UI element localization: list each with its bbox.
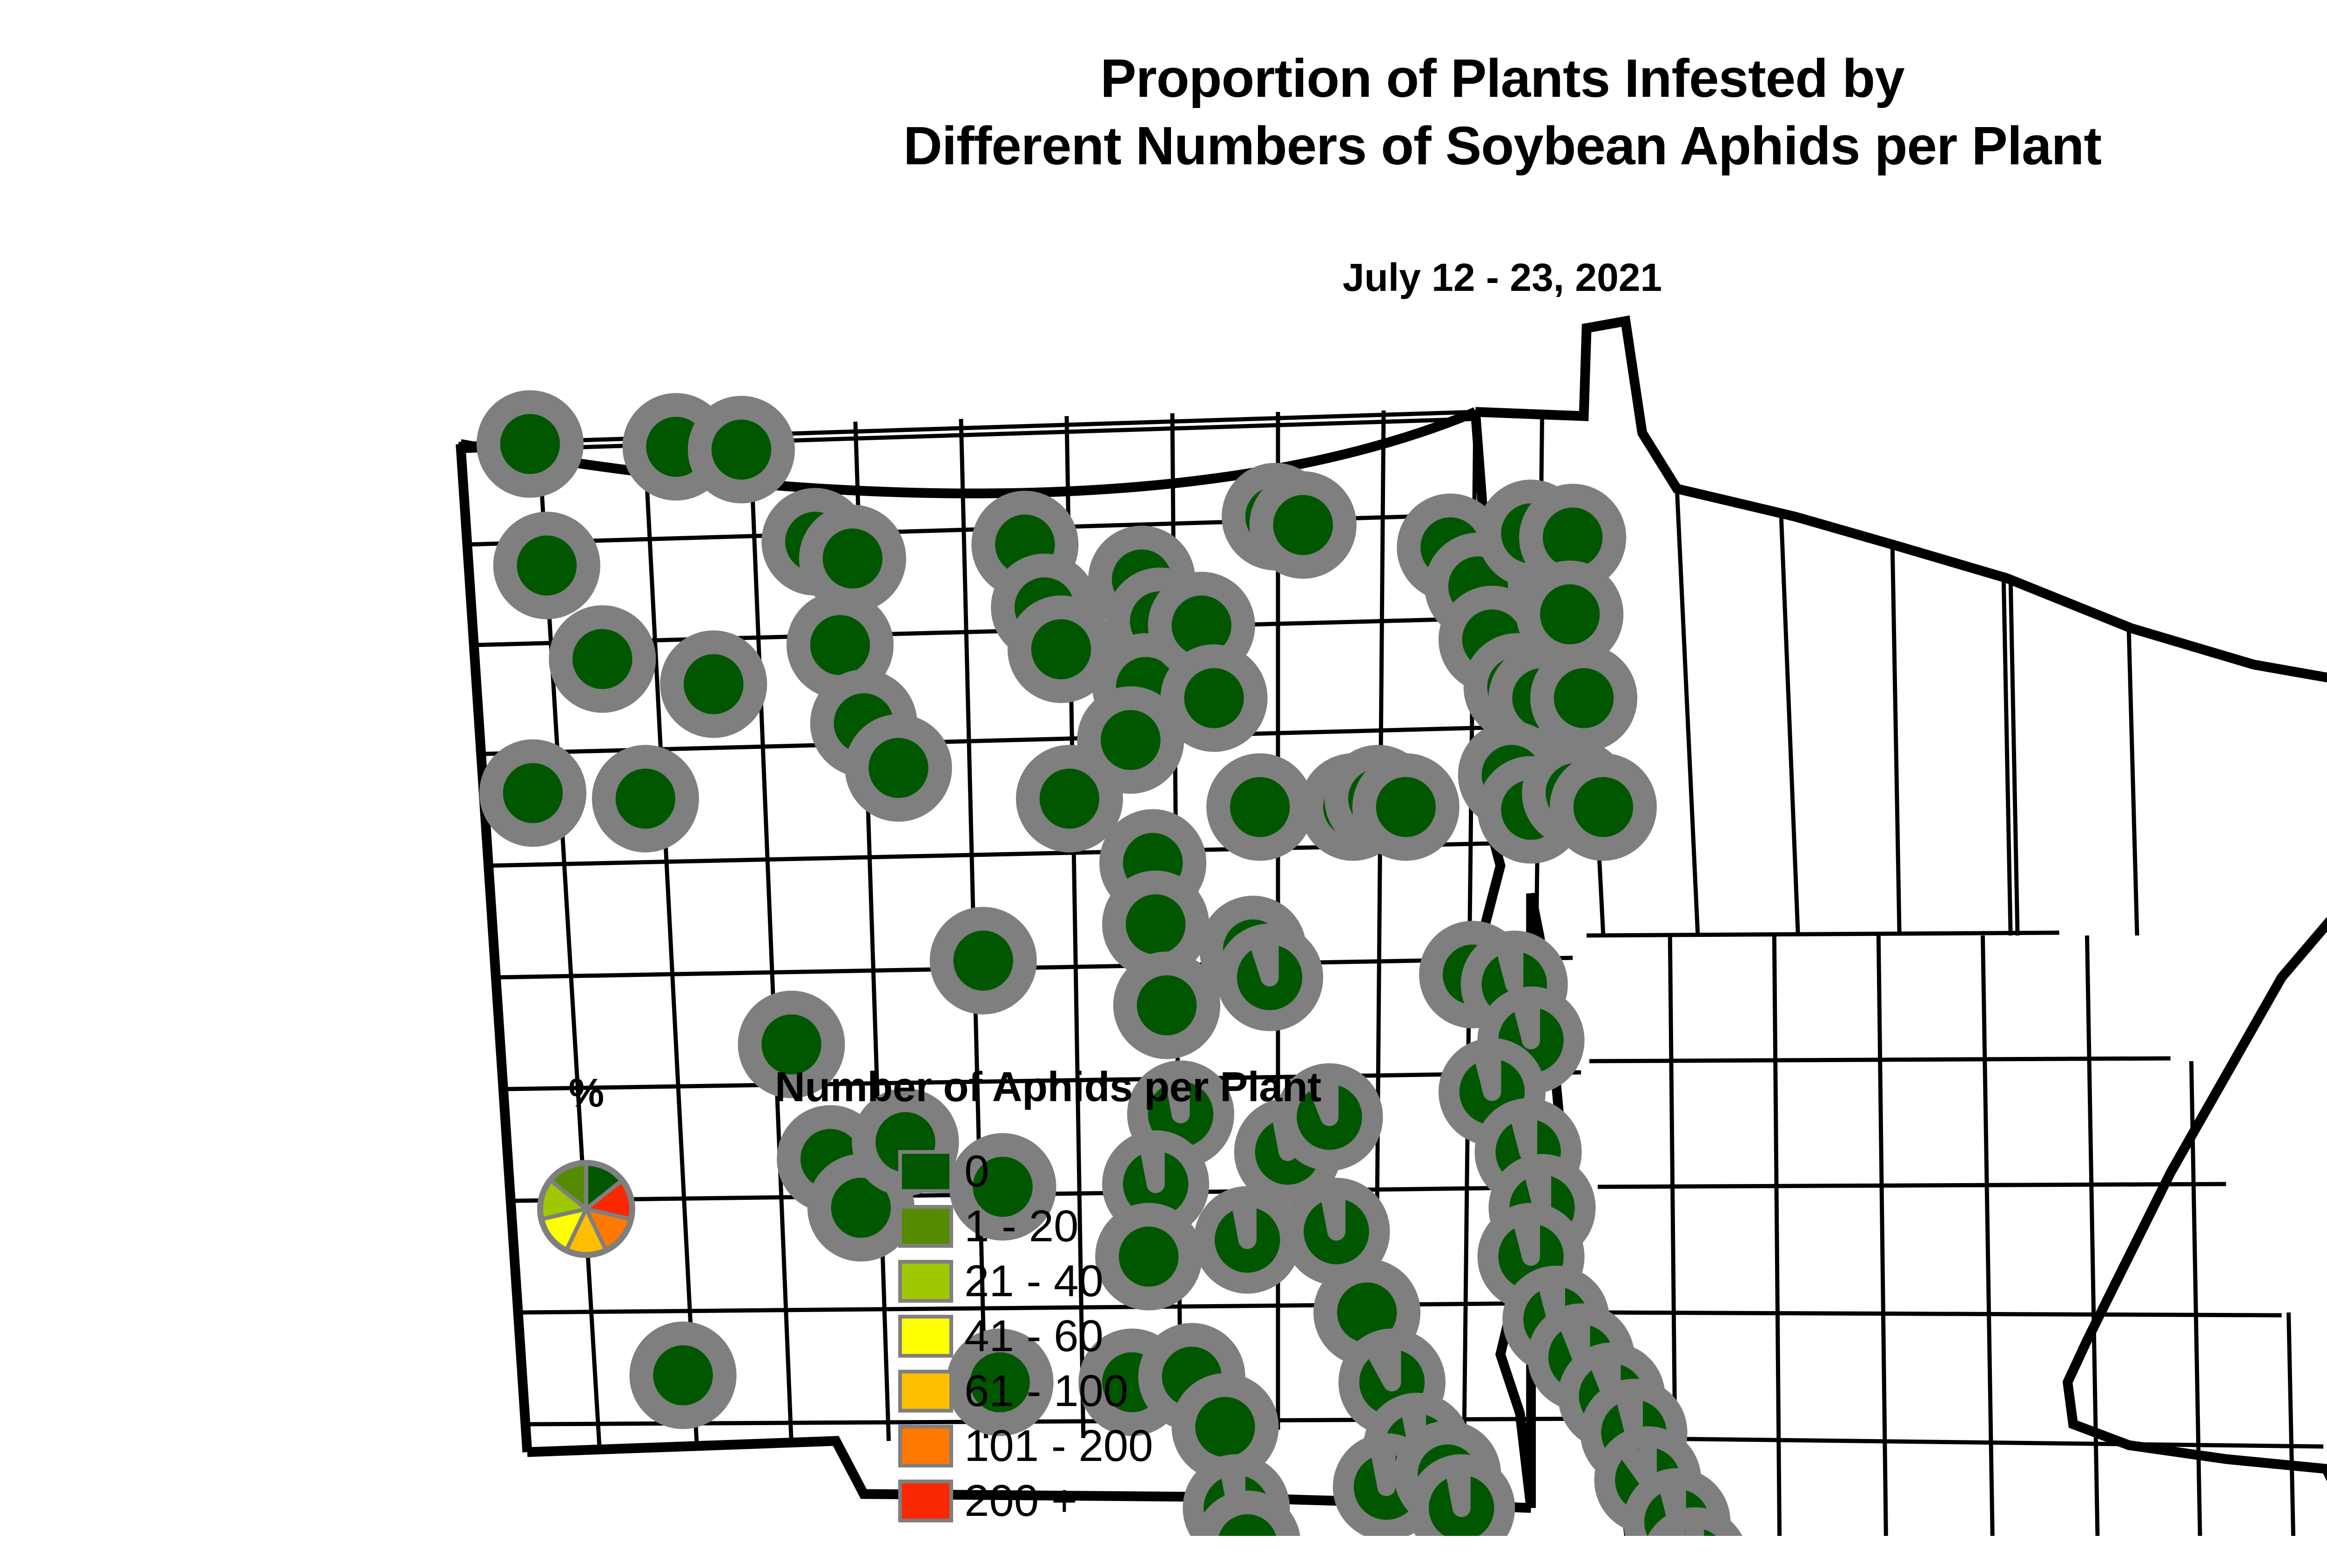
title-line-2: Different Numbers of Soybean Aphids per … <box>0 112 2327 180</box>
site-pie-marker <box>561 617 644 701</box>
site-pie-marker <box>857 726 940 810</box>
state-county-map <box>419 279 2327 1536</box>
pie-slice <box>1520 998 1531 1040</box>
figure-title: Proportion of Plants Infested by Differe… <box>0 45 2327 180</box>
legend-color-swatch <box>898 1260 953 1303</box>
percent-key-label: % <box>493 1070 679 1117</box>
pie-slice <box>1453 1466 1461 1508</box>
pie-marker-outline <box>491 751 574 835</box>
pie-marker-outline <box>1089 698 1172 782</box>
pie-marker-outline <box>1542 656 1626 740</box>
pie-marker-outline <box>1364 765 1447 849</box>
legend-row: 21 - 40 <box>898 1254 1321 1309</box>
pie-slice <box>1257 935 1270 977</box>
pie-marker-outline <box>1172 656 1256 740</box>
title-line-1: Proportion of Plants Infested by <box>0 45 2327 112</box>
legend-color-swatch <box>898 1370 953 1413</box>
site-pie-marker <box>699 408 783 491</box>
pie-slice <box>1482 1050 1492 1092</box>
pie-marker-outline <box>1261 483 1345 567</box>
legend-row: 61 - 100 <box>898 1364 1321 1419</box>
legend-label: 1 - 20 <box>964 1204 1078 1249</box>
site-pie-marker <box>811 517 894 600</box>
pie-marker-outline <box>1218 765 1302 849</box>
legend-color-swatch <box>898 1205 953 1248</box>
pie-marker-outline <box>1125 963 1208 1047</box>
legend-color-swatch <box>898 1315 953 1358</box>
site-pie-marker <box>1125 963 1208 1047</box>
pie-slice <box>1329 1190 1337 1232</box>
site-pie-marker <box>505 524 588 607</box>
pie-marker-outline <box>1528 572 1612 656</box>
legend-color-swatch <box>898 1425 953 1467</box>
pie-slice <box>1670 1519 1695 1536</box>
legend-title: Number of Aphids per Plant <box>775 1063 1321 1111</box>
pie-marker-outline <box>488 402 572 486</box>
site-pie-marker <box>491 751 574 835</box>
site-pie-marker <box>488 402 572 486</box>
site-pie-marker <box>942 919 1025 1003</box>
pie-slice <box>1504 942 1514 984</box>
pie-slice <box>1623 1391 1634 1433</box>
legend-row: 200 + <box>898 1474 1321 1528</box>
pie-slice <box>1532 1166 1542 1208</box>
legend-label: 200 + <box>964 1479 1077 1523</box>
site-pie-marker <box>1364 765 1447 849</box>
map-panel <box>419 279 2327 1536</box>
pie-slice <box>1518 1110 1528 1152</box>
site-pie-marker <box>1653 1519 1736 1536</box>
figure-canvas: Proportion of Plants Infested by Differe… <box>0 0 2327 1568</box>
site-pie-marker <box>1528 572 1612 656</box>
legend-color-swatch <box>898 1480 953 1522</box>
pie-marker-outline <box>505 524 588 607</box>
pie-slice <box>1379 1445 1386 1487</box>
legend-label: 21 - 40 <box>964 1259 1103 1304</box>
site-pie-marker <box>604 757 687 841</box>
site-pie-marker <box>1089 698 1172 782</box>
legend-row: 41 - 60 <box>898 1309 1321 1364</box>
site-pie-marker <box>672 642 755 726</box>
legend-row: 0 <box>898 1144 1321 1199</box>
percent-key-pie <box>536 1159 636 1259</box>
legend-label: 61 - 100 <box>964 1369 1128 1413</box>
legend-row: 1 - 20 <box>898 1199 1321 1254</box>
pie-marker-outline <box>561 617 644 701</box>
site-pie-marker <box>1172 656 1256 740</box>
pie-marker-outline <box>604 757 687 841</box>
site-pie-marker <box>1542 656 1626 740</box>
site-pie-marker <box>1228 935 1311 1019</box>
pie-marker-outline <box>699 408 783 491</box>
pie-marker-outline <box>641 1333 725 1417</box>
site-pie-marker <box>1561 765 1645 849</box>
legend: Number of Aphids per Plant 01 - 2021 - 4… <box>775 1063 1321 1528</box>
site-pie-marker <box>1261 483 1345 567</box>
percent-key: % <box>493 1070 679 1303</box>
legend-item-list: 01 - 2021 - 4041 - 6061 - 100101 - 20020… <box>898 1144 1321 1528</box>
pie-marker-outline <box>942 919 1025 1003</box>
legend-row: 101 - 200 <box>898 1419 1321 1474</box>
legend-label: 41 - 60 <box>964 1314 1103 1359</box>
legend-label: 101 - 200 <box>964 1424 1153 1468</box>
pie-marker-outline <box>1019 607 1103 691</box>
site-pie-marker <box>1420 1466 1503 1536</box>
pie-marker-outline <box>857 726 940 810</box>
pie-slice <box>1520 1215 1531 1257</box>
pie-marker-outline <box>672 642 755 726</box>
site-pie-marker <box>1218 765 1302 849</box>
pie-marker-outline <box>1561 765 1645 849</box>
site-pie-marker <box>1019 607 1103 691</box>
site-pie-marker <box>641 1333 725 1417</box>
legend-color-swatch <box>898 1150 953 1193</box>
pie-marker-outline <box>811 517 894 600</box>
legend-label: 0 <box>964 1149 989 1194</box>
